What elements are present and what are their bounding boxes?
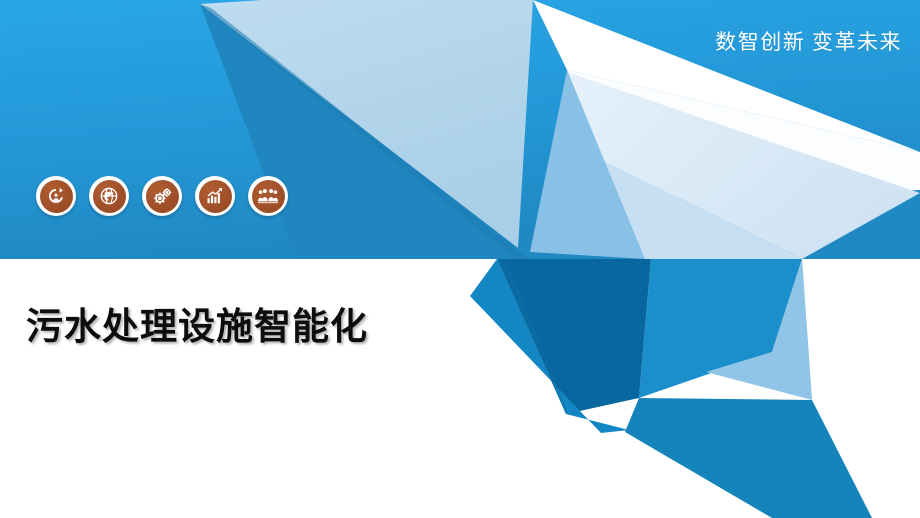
gears-icon[interactable] [142,176,182,216]
bar-chart-growth-glyph [199,180,232,213]
slide-tagline: 数智创新 变革未来 [715,26,902,56]
recycle-person-glyph [40,180,73,213]
background-geometry [0,0,920,518]
team-people-icon[interactable] [248,176,288,216]
gears-glyph [146,180,179,213]
icon-row [36,176,288,216]
presentation-slide: 数智创新 变革未来 [0,0,920,518]
globe-icon[interactable] [89,176,129,216]
bar-chart-growth-icon[interactable] [195,176,235,216]
globe-glyph [93,180,126,213]
recycle-person-icon[interactable] [36,176,76,216]
page-title: 污水处理设施智能化 [26,296,368,350]
team-people-glyph [252,180,285,213]
